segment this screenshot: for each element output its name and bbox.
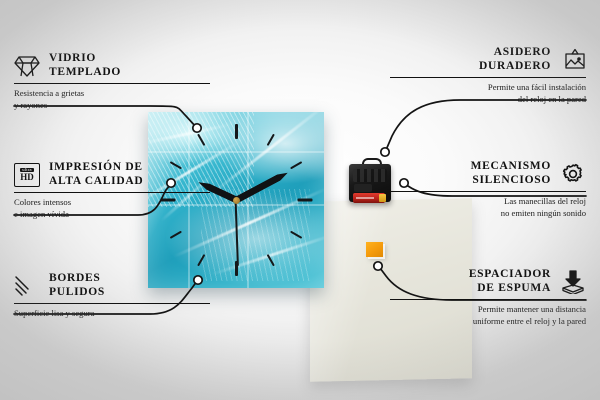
feature-title: MECANISMOSILENCIOSO [471, 160, 551, 187]
feature-description: Resistencia a grietasy rayones [14, 88, 210, 111]
feature-espaciador-de-espuma[interactable]: ESPACIADORDE ESPUMA Permite mantener una… [390, 268, 586, 328]
print-grid-line [247, 112, 249, 288]
feature-heading: VIDRIOTEMPLADO [14, 52, 210, 79]
diamond-icon [14, 53, 40, 79]
feature-description: Las manecillas del relojno emiten ningún… [390, 196, 586, 219]
feature-title: ASIDERODURADERO [479, 46, 551, 73]
leader-line-asidero [386, 100, 586, 150]
feature-mecanismo-silencioso[interactable]: MECANISMOSILENCIOSO Las manecillas del r… [390, 160, 586, 220]
feature-description: Colores intensose imagen vívida [14, 197, 210, 220]
clock-tick [297, 199, 312, 202]
feature-heading: ASIDERODURADERO [390, 46, 586, 73]
feature-divider [390, 191, 586, 192]
feature-heading: BORDESPULIDOS [14, 272, 210, 299]
leader-dot-asidero [381, 148, 389, 156]
feature-divider [14, 83, 210, 84]
feature-heading: MECANISMOSILENCIOSO [390, 160, 586, 187]
feature-title: VIDRIOTEMPLADO [49, 52, 121, 79]
feature-description: Permite una fácil instalacióndel reloj e… [390, 82, 586, 105]
feature-heading: ultra HD IMPRESIÓN DEALTA CALIDAD [14, 161, 210, 188]
feature-divider [390, 77, 586, 78]
feature-asidero-duradero[interactable]: ASIDERODURADERO Permite una fácil instal… [390, 46, 586, 106]
feature-description: Permite mantener una distanciauniforme e… [390, 304, 586, 327]
feature-vidrio-templado[interactable]: VIDRIOTEMPLADO Resistencia a grietasy ra… [14, 52, 210, 112]
feature-title: IMPRESIÓN DEALTA CALIDAD [49, 161, 143, 188]
mechanism-body [349, 164, 391, 202]
wall-hanging-frame-icon [560, 47, 586, 73]
feature-heading: ESPACIADORDE ESPUMA [390, 268, 586, 295]
clock-tick [290, 161, 302, 169]
feature-description: Superficie lisa y segura [14, 308, 210, 320]
polished-edges-icon [14, 273, 40, 299]
feature-divider [14, 192, 210, 193]
ultra-hd-icon: ultra HD [14, 162, 40, 188]
clock-center-cap [233, 197, 240, 204]
clock-tick [235, 124, 238, 139]
feature-divider [14, 303, 210, 304]
feature-title: BORDESPULIDOS [49, 272, 105, 299]
print-grid-line [148, 151, 324, 153]
foam-spacer-arrow-icon [560, 269, 586, 295]
battery [353, 193, 385, 203]
foam-spacer [366, 242, 383, 257]
feature-title: ESPACIADORDE ESPUMA [469, 268, 551, 295]
feature-bordes-pulidos[interactable]: BORDESPULIDOS Superficie lisa y segura [14, 272, 210, 320]
clock-tick [170, 231, 182, 239]
clock-mechanism [349, 158, 391, 202]
feature-divider [390, 299, 586, 300]
gear-icon [560, 161, 586, 187]
infographic-canvas: VIDRIOTEMPLADO Resistencia a grietasy ra… [0, 0, 600, 400]
feature-impresion-alta-calidad[interactable]: ultra HD IMPRESIÓN DEALTA CALIDAD Colore… [14, 161, 210, 221]
